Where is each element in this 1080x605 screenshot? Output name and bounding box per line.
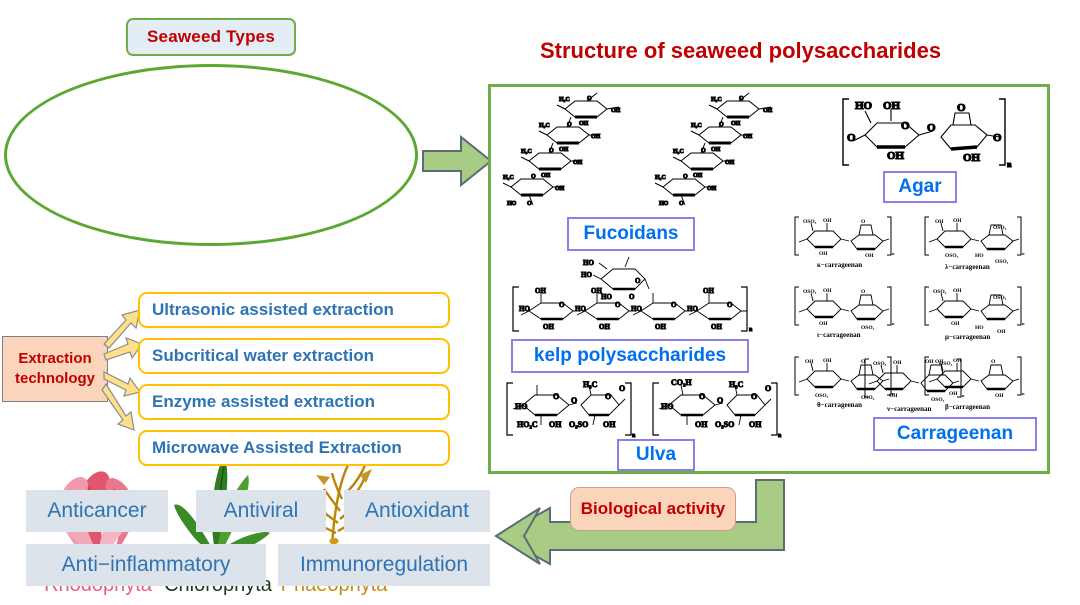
extraction-box-line2: technology bbox=[15, 369, 95, 389]
carr-name-3: μ−carrageenan bbox=[945, 333, 990, 341]
svg-text:H₃C: H₃C bbox=[539, 123, 550, 129]
svg-text:n: n bbox=[1022, 321, 1025, 326]
svg-text:O: O bbox=[559, 301, 565, 309]
svg-text:OSO₃: OSO₃ bbox=[861, 325, 875, 331]
svg-text:O: O bbox=[679, 201, 684, 207]
carr-name-1: λ−carrageenan bbox=[945, 263, 990, 271]
svg-text:O: O bbox=[567, 122, 572, 128]
svg-text:OH: OH bbox=[951, 321, 960, 327]
svg-text:HO: HO bbox=[583, 259, 594, 267]
svg-text:OSO₃: OSO₃ bbox=[993, 225, 1007, 231]
svg-text:OSO₃: OSO₃ bbox=[939, 361, 953, 367]
svg-text:O: O bbox=[605, 392, 611, 401]
svg-text:O: O bbox=[993, 132, 1002, 144]
seaweed-types-ellipse bbox=[4, 64, 418, 246]
svg-text:H₃C: H₃C bbox=[559, 97, 570, 103]
chem-label-agar: Agar bbox=[883, 171, 957, 203]
svg-text:H₃C: H₃C bbox=[711, 97, 722, 103]
svg-text:OH: OH bbox=[611, 108, 621, 114]
svg-text:n: n bbox=[1022, 251, 1025, 256]
svg-text:OH: OH bbox=[889, 393, 898, 399]
svg-text:OH: OH bbox=[599, 323, 610, 331]
svg-text:OH: OH bbox=[953, 218, 962, 224]
svg-text:HO: HO bbox=[581, 271, 592, 279]
bio-activity-anti-inflammatory[interactable]: Anti−inflammatory bbox=[26, 544, 266, 586]
svg-text:OH: OH bbox=[887, 150, 905, 162]
svg-text:O: O bbox=[699, 392, 705, 401]
svg-text:OH: OH bbox=[925, 359, 934, 365]
svg-text:H₃C: H₃C bbox=[691, 123, 702, 129]
fucoidan-structure-diagram: H₃C O OH OH H₃C O OH OH bbox=[497, 91, 787, 221]
svg-text:OH: OH bbox=[535, 287, 546, 295]
carr-name-6: ν−carrageenan bbox=[886, 405, 932, 413]
bio-activity-antiviral[interactable]: Antiviral bbox=[196, 490, 326, 532]
svg-text:O: O bbox=[629, 293, 635, 301]
carr-name-2: ι−carrageenan bbox=[817, 331, 861, 339]
svg-text:HO: HO bbox=[659, 201, 669, 207]
svg-text:OH: OH bbox=[693, 173, 703, 179]
chem-label-fucoidans: Fucoidans bbox=[567, 217, 695, 251]
carr-name-0: κ−carrageenan bbox=[817, 261, 862, 269]
svg-text:O: O bbox=[527, 201, 532, 207]
svg-text:HO₂C: HO₂C bbox=[517, 420, 538, 429]
kelp-structure-diagram: HO HO O HO O OH HO O OH bbox=[505, 253, 761, 337]
svg-text:O: O bbox=[847, 132, 856, 144]
svg-text:O₃SO: O₃SO bbox=[569, 420, 588, 429]
svg-text:O: O bbox=[635, 277, 641, 285]
svg-text:OH: OH bbox=[711, 323, 722, 331]
chem-label-kelp: kelp polysaccharides bbox=[511, 339, 749, 373]
svg-text:OH: OH bbox=[591, 134, 601, 140]
svg-text:OSO₃: OSO₃ bbox=[931, 397, 945, 403]
svg-text:HO: HO bbox=[687, 305, 698, 313]
svg-text:OSO₃: OSO₃ bbox=[933, 289, 947, 295]
svg-text:O: O bbox=[991, 359, 996, 365]
svg-text:H₃C: H₃C bbox=[655, 175, 666, 181]
structure-panel: H₃C O OH OH H₃C O OH OH bbox=[488, 84, 1050, 474]
svg-text:n: n bbox=[1007, 160, 1012, 169]
svg-text:O: O bbox=[727, 301, 733, 309]
svg-text:OSO₃: OSO₃ bbox=[945, 253, 959, 259]
svg-text:OH: OH bbox=[555, 186, 565, 192]
svg-text:HO: HO bbox=[601, 293, 612, 301]
svg-text:OH: OH bbox=[731, 121, 741, 127]
svg-text:n: n bbox=[1022, 391, 1025, 396]
bio-activity-immunoregulation[interactable]: Immunoregulation bbox=[278, 544, 490, 586]
svg-text:OH: OH bbox=[865, 253, 874, 259]
svg-text:CO₂H: CO₂H bbox=[671, 378, 692, 387]
svg-text:O: O bbox=[549, 148, 554, 154]
svg-text:O: O bbox=[861, 219, 866, 225]
svg-text:HO: HO bbox=[519, 305, 530, 313]
svg-text:O: O bbox=[553, 392, 559, 401]
svg-text:OH: OH bbox=[655, 323, 666, 331]
svg-text:O: O bbox=[739, 96, 744, 102]
svg-text:OH: OH bbox=[953, 288, 962, 294]
svg-text:OH: OH bbox=[559, 147, 569, 153]
svg-text:O: O bbox=[531, 174, 536, 180]
svg-text:OH: OH bbox=[749, 420, 762, 429]
svg-text:O: O bbox=[957, 102, 966, 114]
svg-text:O: O bbox=[615, 301, 621, 309]
svg-text:n: n bbox=[778, 433, 782, 439]
svg-text:O: O bbox=[901, 120, 910, 132]
svg-text:OH: OH bbox=[935, 219, 944, 225]
svg-text:O: O bbox=[587, 96, 592, 102]
svg-text:O: O bbox=[717, 396, 723, 405]
svg-text:O: O bbox=[571, 396, 577, 405]
svg-text:H₃C: H₃C bbox=[503, 175, 514, 181]
svg-text:HO: HO bbox=[575, 305, 586, 313]
svg-text:OH: OH bbox=[703, 287, 714, 295]
bio-activity-antioxidant[interactable]: Antioxidant bbox=[344, 490, 490, 532]
extraction-method-0[interactable]: Ultrasonic assisted extraction bbox=[138, 292, 450, 328]
seaweed-types-title: Seaweed Types bbox=[126, 18, 296, 56]
svg-text:OH: OH bbox=[549, 420, 562, 429]
extraction-method-2[interactable]: Enzyme assisted extraction bbox=[138, 384, 450, 420]
svg-text:O₃SO: O₃SO bbox=[715, 420, 734, 429]
svg-text:OH: OH bbox=[805, 359, 814, 365]
svg-text:OH: OH bbox=[579, 121, 589, 127]
svg-text:OH: OH bbox=[711, 147, 721, 153]
svg-text:OH: OH bbox=[707, 186, 717, 192]
svg-text:OSO₃: OSO₃ bbox=[803, 289, 817, 295]
svg-text:OH: OH bbox=[883, 100, 901, 112]
svg-text:OH: OH bbox=[603, 420, 616, 429]
svg-text:OH: OH bbox=[743, 134, 753, 140]
svg-text:OH: OH bbox=[823, 358, 832, 364]
svg-text:OH: OH bbox=[819, 321, 828, 327]
svg-text:O: O bbox=[765, 384, 771, 393]
svg-text:n: n bbox=[749, 327, 753, 333]
panel-title: Structure of seaweed polysaccharides bbox=[540, 36, 1040, 66]
svg-text:OH: OH bbox=[573, 160, 583, 166]
svg-text:OSO₃: OSO₃ bbox=[993, 295, 1007, 301]
svg-text:O: O bbox=[861, 289, 866, 295]
svg-text:HO: HO bbox=[855, 100, 873, 112]
svg-text:O: O bbox=[927, 122, 936, 134]
svg-text:H₃C: H₃C bbox=[673, 149, 684, 155]
chem-label-carrageenan: Carrageenan bbox=[873, 417, 1037, 451]
svg-text:OH: OH bbox=[763, 108, 773, 114]
svg-text:OH: OH bbox=[541, 173, 551, 179]
agar-structure-diagram: HO OH O O OH O O OH O n bbox=[835, 91, 1015, 173]
svg-text:n: n bbox=[962, 393, 965, 398]
infographic-canvas: Seaweed Types Rhodophyta bbox=[0, 0, 1080, 605]
svg-text:OH: OH bbox=[823, 288, 832, 294]
svg-text:OH: OH bbox=[823, 218, 832, 224]
svg-text:O: O bbox=[671, 301, 677, 309]
extraction-box-line1: Extraction bbox=[18, 349, 91, 369]
svg-text:HO: HO bbox=[975, 325, 984, 331]
svg-text:H₃C: H₃C bbox=[521, 149, 532, 155]
svg-text:n: n bbox=[892, 251, 895, 256]
svg-text:HO: HO bbox=[515, 402, 527, 411]
svg-text:H₃C: H₃C bbox=[583, 380, 598, 389]
svg-text:OH: OH bbox=[819, 251, 828, 257]
svg-text:OSO₃: OSO₃ bbox=[995, 259, 1009, 265]
svg-text:OH: OH bbox=[995, 393, 1004, 399]
chem-label-ulva: Ulva bbox=[617, 439, 695, 471]
svg-text:n: n bbox=[892, 321, 895, 326]
svg-text:O: O bbox=[751, 392, 757, 401]
svg-text:HO: HO bbox=[661, 402, 673, 411]
svg-text:O: O bbox=[619, 384, 625, 393]
svg-text:OH: OH bbox=[997, 329, 1006, 335]
svg-text:H₃C: H₃C bbox=[729, 380, 744, 389]
svg-text:O: O bbox=[701, 148, 706, 154]
svg-text:OSO₃: OSO₃ bbox=[815, 393, 829, 399]
biological-activity-box: Biological activity bbox=[570, 487, 736, 531]
svg-text:HO: HO bbox=[631, 305, 642, 313]
extraction-technology-box: Extraction technology bbox=[2, 336, 108, 402]
svg-text:O: O bbox=[719, 122, 724, 128]
arrow-ellipse-to-panel bbox=[421, 133, 493, 189]
bio-activity-anticancer[interactable]: Anticancer bbox=[26, 490, 168, 532]
svg-text:OH: OH bbox=[963, 152, 981, 164]
svg-text:OH: OH bbox=[893, 360, 902, 366]
svg-text:OH: OH bbox=[591, 287, 602, 295]
svg-text:OH: OH bbox=[695, 420, 708, 429]
svg-text:OH: OH bbox=[725, 160, 735, 166]
svg-text:HO: HO bbox=[975, 253, 984, 259]
extraction-method-3[interactable]: Microwave Assisted Extraction bbox=[138, 430, 450, 466]
svg-text:HO: HO bbox=[507, 201, 517, 207]
nu-carrageenan-diagram: OSO₃ OH OH OSO₃ OH OSO₃ n ν−carrageenan bbox=[853, 349, 977, 421]
svg-text:OSO₃: OSO₃ bbox=[803, 219, 817, 225]
svg-text:O: O bbox=[683, 174, 688, 180]
svg-text:OSO₃: OSO₃ bbox=[873, 361, 887, 367]
svg-text:OH: OH bbox=[543, 323, 554, 331]
extraction-method-1[interactable]: Subcritical water extraction bbox=[138, 338, 450, 374]
